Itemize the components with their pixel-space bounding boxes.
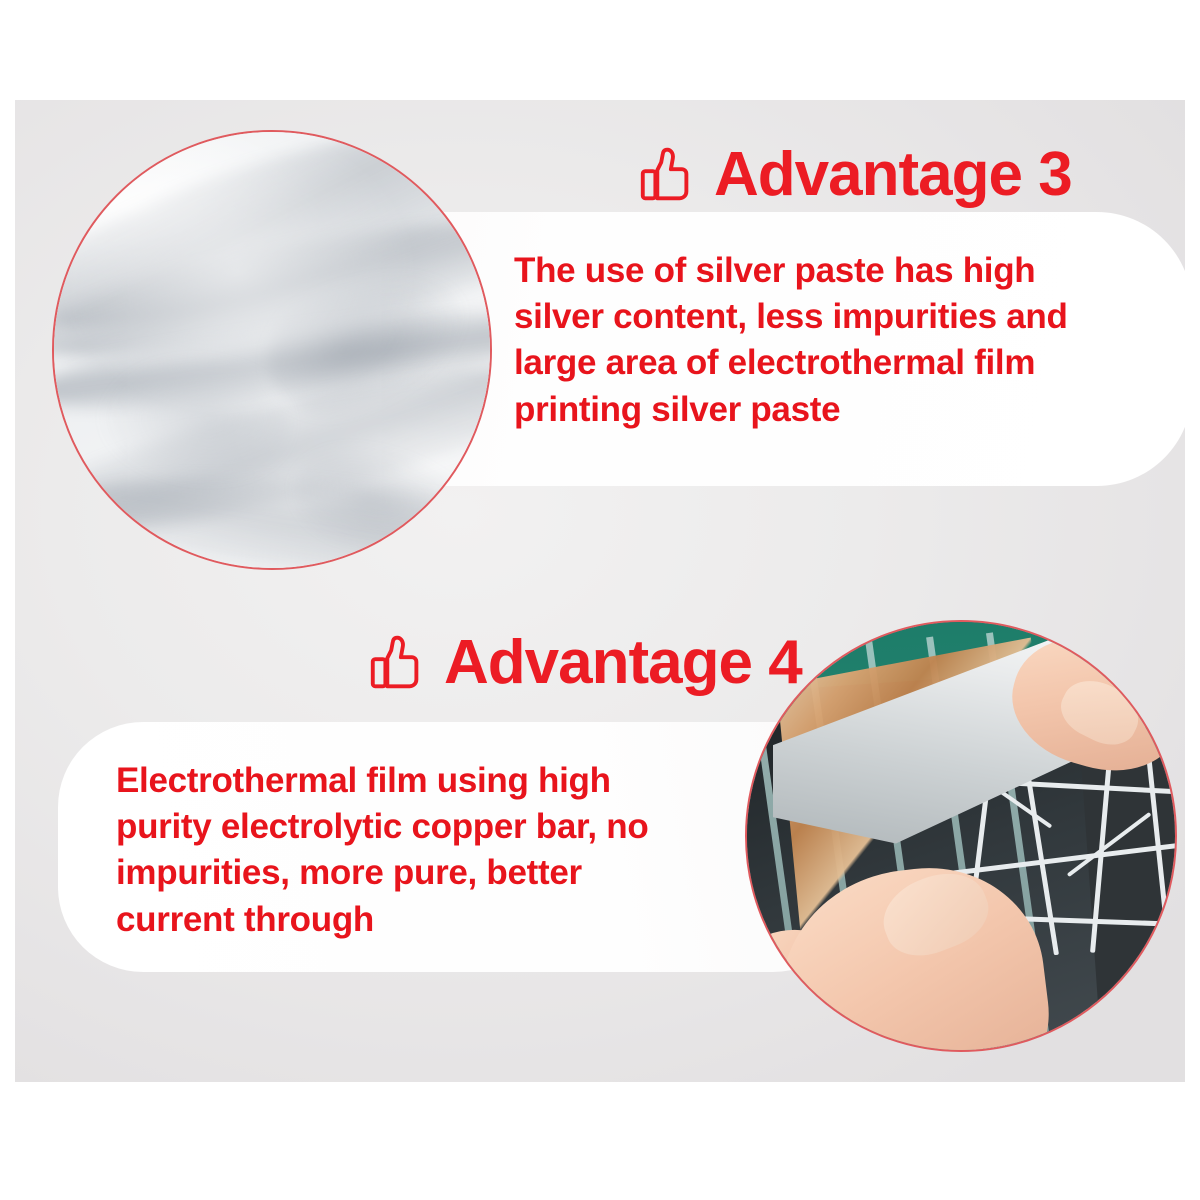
advantage-3-heading: Advantage 3 xyxy=(636,144,1072,206)
advantage-3-body: The use of silver paste has high silver … xyxy=(514,248,1134,433)
advantage-3-heading-label: Advantage 3 xyxy=(714,144,1072,206)
thumbs-up-icon xyxy=(366,632,428,694)
crack-line xyxy=(1067,812,1151,877)
paste-highlight xyxy=(54,132,490,568)
advantage-4-body: Electrothermal film using high purity el… xyxy=(116,758,696,943)
infographic-stage: Advantage 3 The use of silver paste has … xyxy=(0,0,1200,1200)
silver-paste-photo xyxy=(52,130,492,570)
copper-bar-film-photo xyxy=(745,620,1177,1052)
fingernail xyxy=(1053,669,1149,754)
advantage-4-heading: Advantage 4 xyxy=(366,632,802,694)
advantage-4-heading-label: Advantage 4 xyxy=(444,632,802,694)
thumbs-up-icon xyxy=(636,144,698,206)
